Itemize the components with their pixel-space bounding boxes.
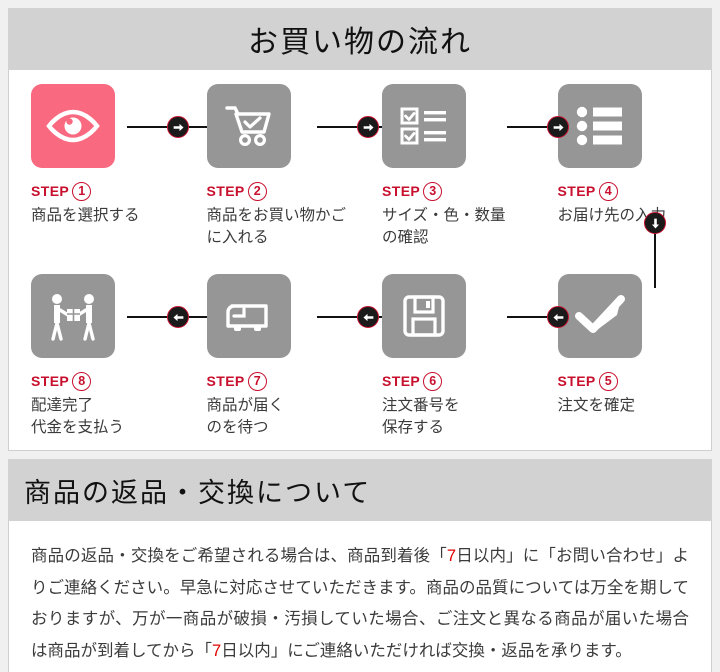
floppy-save-icon (401, 293, 447, 339)
step-6-desc: 注文番号を 保存する (382, 395, 536, 439)
flow-step-5[interactable]: STEP 5 注文を確定 (536, 260, 712, 450)
flow-step-2[interactable]: STEP 2 商品をお買い物かご に入れる (185, 70, 361, 260)
step-5-label: STEP 5 (558, 371, 712, 391)
flow-step-1[interactable]: STEP 1 商品を選択する (9, 70, 185, 260)
arrow-down-badge (644, 212, 666, 234)
step-5-number: 5 (599, 372, 618, 391)
step-7-keyword: STEP (207, 373, 245, 389)
step-6-tile (382, 274, 466, 358)
step-7-tile (207, 274, 291, 358)
step-7-number: 7 (248, 372, 267, 391)
returns-body: 商品の返品・交換をご希望される場合は、商品到着後「7日以内」に「お問い合わせ」よ… (8, 521, 712, 672)
handover-package-icon (46, 291, 100, 341)
step-2-number: 2 (248, 182, 267, 201)
flow-row-1: STEP 1 商品を選択する (9, 70, 711, 260)
step-4-desc: お届け先の入力 (558, 205, 712, 227)
step-1-label: STEP 1 (31, 181, 185, 201)
step-2-label: STEP 2 (207, 181, 361, 201)
returns-text-part3: 日以内」にご連絡いただければ交換・返品を承ります。 (221, 642, 632, 660)
step-6-number: 6 (423, 372, 442, 391)
flow-step-8[interactable]: STEP 8 配達完了 代金を支払う (9, 260, 185, 450)
flow-panel: STEP 1 商品を選択する (8, 70, 712, 451)
step-3-desc: サイズ・色・数量 の確認 (382, 205, 536, 249)
arrow-right-badge-1 (167, 116, 189, 138)
step-7-desc: 商品が届く のを待つ (207, 395, 361, 439)
step-8-keyword: STEP (31, 373, 69, 389)
step-5-tile (558, 274, 642, 358)
flow-step-6[interactable]: STEP 6 注文番号を 保存する (360, 260, 536, 450)
step-4-tile (558, 84, 642, 168)
bullet-list-icon (575, 105, 625, 147)
step-3-tile (382, 84, 466, 168)
page-title-band: お買い物の流れ (8, 8, 712, 70)
step-4-number: 4 (599, 182, 618, 201)
step-8-number: 8 (72, 372, 91, 391)
shopping-flow-page: お買い物の流れ (0, 8, 720, 672)
step-3-keyword: STEP (382, 183, 420, 199)
arrow-left-badge-1 (167, 306, 189, 328)
arrow-left-badge-2 (357, 306, 379, 328)
arrow-left-badge-3 (547, 306, 569, 328)
delivery-truck-icon (222, 296, 276, 336)
step-8-label: STEP 8 (31, 371, 185, 391)
flow-row-2: STEP 8 配達完了 代金を支払う (9, 260, 711, 450)
step-5-desc: 注文を確定 (558, 395, 712, 417)
step-3-label: STEP 3 (382, 181, 536, 201)
arrow-right-badge-2 (357, 116, 379, 138)
arrow-right-badge-3 (547, 116, 569, 138)
step-4-keyword: STEP (558, 183, 596, 199)
step-7-label: STEP 7 (207, 371, 361, 391)
flow-step-3[interactable]: STEP 3 サイズ・色・数量 の確認 (360, 70, 536, 260)
step-6-keyword: STEP (382, 373, 420, 389)
returns-title: 商品の返品・交換について (24, 471, 371, 510)
step-8-desc: 配達完了 代金を支払う (31, 395, 185, 439)
step-5-keyword: STEP (558, 373, 596, 389)
step-1-keyword: STEP (31, 183, 69, 199)
returns-highlight-days-1: 7 (447, 547, 456, 565)
step-3-number: 3 (423, 182, 442, 201)
step-4-label: STEP 4 (558, 181, 712, 201)
checkmark-icon (574, 294, 626, 338)
step-8-tile (31, 274, 115, 358)
step-2-tile (207, 84, 291, 168)
flow-step-7[interactable]: STEP 7 商品が届く のを待つ (185, 260, 361, 450)
step-2-keyword: STEP (207, 183, 245, 199)
flow-step-4[interactable]: STEP 4 お届け先の入力 (536, 70, 712, 260)
step-2-desc: 商品をお買い物かご に入れる (207, 205, 361, 249)
step-1-desc: 商品を選択する (31, 205, 185, 227)
step-1-number: 1 (72, 182, 91, 201)
returns-highlight-days-2: 7 (212, 642, 221, 660)
step-6-label: STEP 6 (382, 371, 536, 391)
returns-text-part1: 商品の返品・交換をご希望される場合は、商品到着後「 (31, 547, 447, 565)
flow-diagram: STEP 1 商品を選択する (9, 70, 711, 450)
eye-icon (45, 106, 101, 146)
step-1-tile (31, 84, 115, 168)
returns-title-band: 商品の返品・交換について (8, 459, 712, 521)
page-title: お買い物の流れ (248, 17, 472, 61)
checklist-icon (398, 105, 450, 147)
shopping-cart-icon (223, 102, 275, 150)
